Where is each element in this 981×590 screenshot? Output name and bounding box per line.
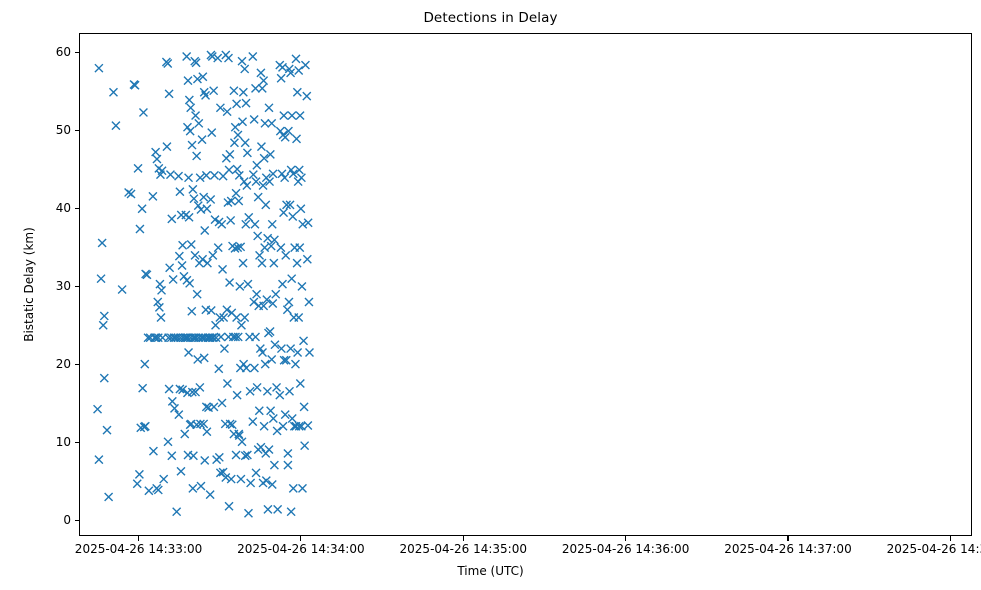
x-tick-label: 2025-04-26 14:38:00 <box>887 542 981 556</box>
y-tick-mark <box>75 286 80 287</box>
x-tick-mark <box>463 536 464 541</box>
x-tick-label: 2025-04-26 14:36:00 <box>562 542 689 556</box>
page-title: Detections in Delay <box>0 10 981 26</box>
x-tick-label: 2025-04-26 14:33:00 <box>75 542 202 556</box>
x-tick-mark <box>787 536 788 541</box>
x-tick-mark <box>625 536 626 541</box>
y-tick-mark <box>75 520 80 521</box>
y-tick-mark <box>75 130 80 131</box>
matplotlib-figure: Detections in Delay 0102030405060 2025-0… <box>0 0 981 590</box>
y-tick-mark <box>75 442 80 443</box>
y-axis-label: Bistatic Delay (km) <box>22 33 36 536</box>
x-tick-mark <box>138 536 139 541</box>
x-tick-mark <box>300 536 301 541</box>
y-tick-mark <box>75 208 80 209</box>
x-tick-label: 2025-04-26 14:35:00 <box>400 542 527 556</box>
plot-axes-area <box>79 33 972 536</box>
y-tick-mark <box>75 364 80 365</box>
scatter-plot-canvas <box>80 34 971 535</box>
y-tick-mark <box>75 52 80 53</box>
x-tick-label: 2025-04-26 14:37:00 <box>724 542 851 556</box>
x-axis-label: Time (UTC) <box>0 564 981 578</box>
x-tick-label: 2025-04-26 14:34:00 <box>237 542 364 556</box>
x-tick-mark <box>950 536 951 541</box>
